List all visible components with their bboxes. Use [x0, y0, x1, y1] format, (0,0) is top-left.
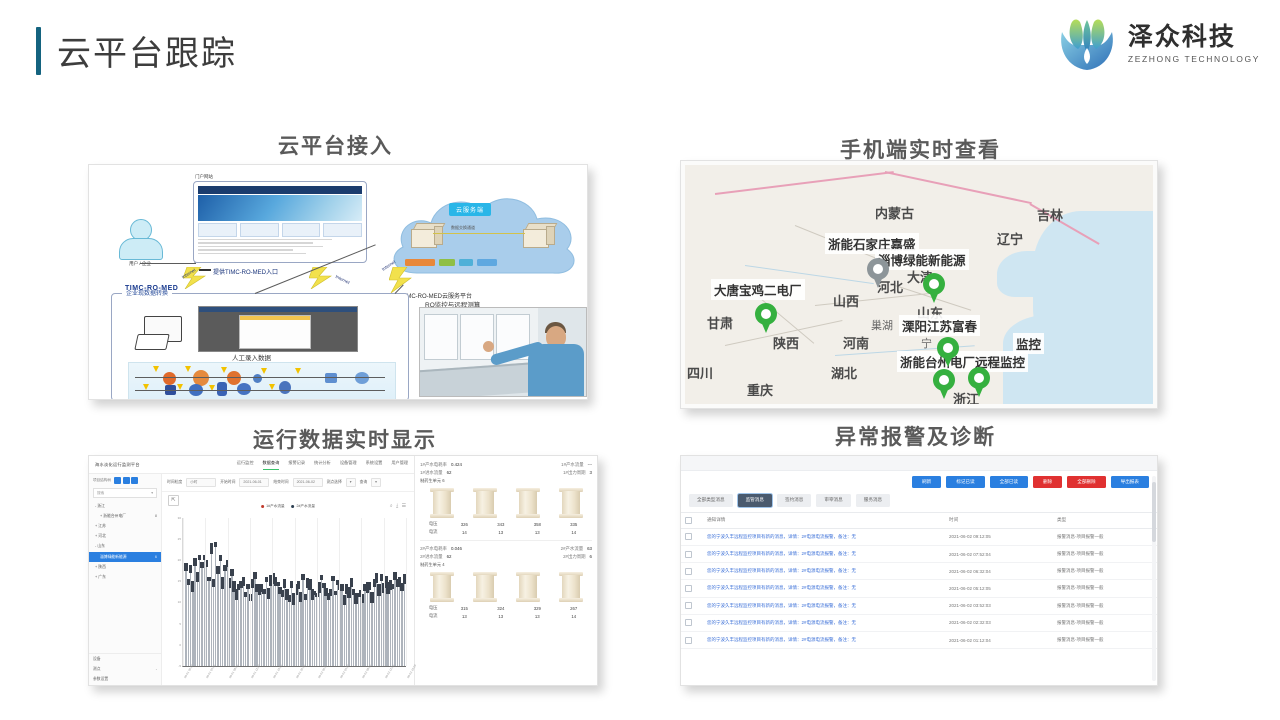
chart-spike: [319, 582, 320, 666]
chart-spike: [302, 574, 303, 666]
metric-value-row: 电流13131314: [420, 613, 592, 619]
chart-y-tick: 15: [170, 579, 181, 583]
map-label-province: 内蒙古: [875, 203, 914, 222]
process-flow-diagram: [128, 362, 396, 400]
alarm-tab[interactable]: 审宰消息: [816, 494, 850, 507]
column-header-message: 通知详情: [703, 512, 945, 528]
chart-spike: [263, 589, 264, 666]
row-checkbox[interactable]: [685, 585, 692, 592]
cloud-tag: 云服务端: [449, 203, 491, 216]
chart-spike: [305, 594, 306, 666]
chart-y-tick: 25: [170, 537, 181, 541]
chart-spike: [312, 589, 313, 666]
chart-y-tick: 10: [170, 600, 181, 604]
chart-spike: [358, 593, 359, 666]
chart-y-tick: -5: [170, 664, 181, 668]
chart-legend-item[interactable]: 1#产水流量: [261, 504, 284, 509]
timc-system-label: TIMC-RO-MED: [125, 285, 178, 292]
chart-spike: [185, 563, 186, 666]
metric-item: 1#出力周期3: [563, 470, 592, 476]
metric-item: 2#进水流量62: [420, 554, 451, 560]
chart-gridline: [384, 518, 385, 666]
title-accent-bar: [36, 27, 41, 75]
lotus-logo-icon: [1056, 14, 1118, 74]
pump-graphics: [420, 488, 592, 518]
table-row[interactable]: 您的宁波久丰远程监控项目有新的消息，详情：2#电源电流报警，备注：无2021-0…: [681, 545, 1157, 562]
map-pin-icon[interactable]: [968, 367, 990, 397]
map-label-project[interactable]: 淄博绿能新能源: [875, 249, 969, 270]
chart-toolbox-icons[interactable]: ⌕ ⤓ ☰: [390, 503, 407, 509]
alarm-type: 报警消息-项目报警一般: [1053, 631, 1157, 648]
table-row[interactable]: 您的宁波久丰远程监控项目有新的消息，详情：2#电源电流报警，备注：无2021-0…: [681, 580, 1157, 597]
select-all-checkbox-cell[interactable]: [681, 512, 703, 528]
cloud-architecture-panel: 用户 / 企业 门户网站 提供TIMC-RO-MED入口: [88, 164, 588, 400]
metric-value-row: 电压315324329267: [420, 605, 592, 611]
user-icon: 用户 / 企业: [117, 219, 163, 265]
dashboard-nav-item[interactable]: 统计分析: [314, 460, 331, 469]
tree-node-list[interactable]: - 浙江+ 浙能台州电厂8+ 江苏+ 河北- 山东淄博绿能新能源6+ 陕西+ 广…: [89, 501, 161, 583]
row-checkbox[interactable]: [685, 602, 692, 609]
map-label-province: 河南: [843, 333, 869, 352]
chart-gridline: [317, 518, 318, 666]
chart-spike: [199, 555, 200, 666]
page-title: 云平台跟踪: [36, 26, 237, 75]
map-label-province: 辽宁: [997, 229, 1023, 248]
map-label-project[interactable]: 大唐宝鸡二电厂: [711, 279, 805, 300]
chart-spike: [222, 577, 223, 666]
chart-spike: [215, 542, 216, 666]
dashboard-nav-item[interactable]: 系统设置: [366, 460, 383, 469]
alarm-time: 2021-06-02 09:12:05: [945, 528, 1053, 545]
tree-collapse-button[interactable]: [123, 477, 130, 484]
chart-spike: [243, 577, 244, 666]
chart-spike: [348, 587, 349, 666]
chart-spike: [256, 584, 257, 666]
alarm-table: 通知详情 时间 类型 您的宁波久丰远程监控项目有新的消息，详情：2#电源电流报警…: [681, 512, 1157, 649]
row-checkbox[interactable]: [685, 533, 692, 540]
project-tree[interactable]: 项目结构树 搜索 ▾ - 浙江+ 浙能台州电厂8+ 江苏+ 河北- 山东淄博绿能…: [89, 474, 162, 685]
row-checkbox[interactable]: [685, 619, 692, 626]
row-checkbox[interactable]: [685, 568, 692, 575]
alarm-tab[interactable]: 签约消息: [777, 494, 811, 507]
slide: 云平台跟踪: [0, 0, 1280, 720]
row-checkbox-cell[interactable]: [681, 528, 703, 545]
tree-footer-item[interactable]: 参数设置: [89, 675, 161, 685]
chart-spike: [252, 579, 253, 666]
chart-spike: [332, 576, 333, 666]
filter-label: 查询: [360, 480, 368, 485]
alarm-time: 2021-06-02 06:32:04: [945, 563, 1053, 580]
table-row[interactable]: 您的宁波久丰远程监控项目有新的消息，详情：2#电源电流报警，备注：无2021-0…: [681, 597, 1157, 614]
metric-unit-label: 制药生单元 6: [420, 478, 592, 484]
chart-spike: [374, 579, 375, 666]
caption-alarm-diagnosis: 异常报警及诊断: [835, 421, 996, 451]
alarm-message[interactable]: 您的宁波久丰远程监控项目有新的消息，详情：2#电源电流报警，备注：无: [703, 528, 945, 545]
chart-y-tick: 20: [170, 558, 181, 562]
alarm-time: 2021-06-02 05:12:05: [945, 580, 1053, 597]
chart-export-icon[interactable]: ⇱: [168, 495, 179, 506]
alarm-action-button[interactable]: 导出报表: [1111, 476, 1149, 488]
chart-gridline: [406, 518, 407, 666]
chart-spike: [201, 562, 202, 666]
chart-spike: [220, 555, 221, 666]
metric-summary-row: 1#产水电耗率0.4241#产水流量---: [420, 462, 592, 468]
metric-summary-row: 1#进水流量621#出力周期3: [420, 470, 592, 476]
chart-spike: [188, 579, 189, 666]
map-label-province: 陕西: [773, 333, 799, 352]
chart-spike: [259, 584, 260, 666]
table-row[interactable]: 您的宁波久丰远程监控项目有新的消息，详情：2#电源电流报警，备注：无2021-0…: [681, 563, 1157, 580]
pump-icon: [430, 572, 454, 602]
tree-toolbar[interactable]: 项目结构树: [89, 474, 161, 487]
filter-control[interactable]: 2021-06-01: [239, 478, 269, 487]
alarm-message[interactable]: 您的宁波久丰远程监控项目有新的消息，详情：2#电源电流报警，备注：无: [703, 631, 945, 648]
chart-spike: [192, 581, 193, 666]
chevron-down-icon[interactable]: ▾: [151, 491, 153, 495]
alarm-type: 报警消息-项目报警一般: [1053, 597, 1157, 614]
page-title-text: 云平台跟踪: [57, 26, 237, 75]
alarm-time: 2021-06-02 01:12:04: [945, 631, 1053, 648]
workstation-icon: [136, 316, 182, 350]
map-label-province: 重庆: [747, 380, 773, 399]
alarm-message[interactable]: 您的宁波久丰远程监控项目有新的消息，详情：2#电源电流报警，备注：无: [703, 597, 945, 614]
map-pin-icon[interactable]: [755, 303, 777, 333]
chart-area: ⇱ 1#产水流量2#产水流量 ⌕ ⤓ ☰ 302520151050-506-01…: [162, 492, 414, 685]
map-label-province: 宁: [921, 335, 932, 351]
chart-gridline: [183, 518, 184, 666]
table-row[interactable]: 您的宁波久丰远程监控项目有新的消息，详情：2#电源电流报警，备注：无2021-0…: [681, 528, 1157, 545]
cloud-link-label: 数据交换通道: [451, 225, 475, 231]
alarm-table-header: 通知详情 时间 类型: [681, 512, 1157, 528]
map-label-province: 四川: [687, 363, 713, 382]
tree-node[interactable]: + 浙能台州电厂8: [89, 511, 161, 521]
enterprise-data-box: 企业现数据转换 人工录入数据: [111, 293, 409, 400]
row-checkbox-cell[interactable]: [681, 563, 703, 580]
china-map[interactable]: 内蒙古吉林辽宁河北山西甘肃陕西河南湖北重庆四川浙江山东大津巢湖宁 浙能石家庄嘉盛…: [685, 165, 1153, 404]
chart-spike: [314, 591, 315, 666]
pump-icon: [516, 572, 540, 602]
filter-control[interactable]: ▾: [346, 478, 356, 487]
metric-value-row: 电流14131314: [420, 529, 592, 535]
chart-spike: [367, 582, 368, 666]
pump-graphics: [420, 572, 592, 602]
row-checkbox-cell[interactable]: [681, 631, 703, 648]
map-label-project[interactable]: 监控: [1013, 333, 1044, 354]
pump-icon: [559, 572, 583, 602]
chart-y-tick: 0: [170, 643, 181, 647]
filter-label: 结束时间: [273, 480, 288, 485]
map-label-province: 山西: [833, 291, 859, 310]
caption-realtime-data: 运行数据实时显示: [253, 424, 437, 454]
chart-y-tick: 5: [170, 622, 181, 626]
alarm-message[interactable]: 您的宁波久丰远程监控项目有新的消息，详情：2#电源电流报警，备注：无: [703, 545, 945, 562]
dashboard-nav-item[interactable]: 用户管理: [391, 460, 408, 469]
scada-screen: [198, 306, 358, 352]
server-icon-app: [411, 223, 441, 247]
chart-filter-bar[interactable]: 时间粒度小时开始时间2021-06-01结束时间2021-06-02测点选择▾查…: [162, 474, 414, 492]
tree-node[interactable]: + 河北: [89, 532, 161, 542]
logo-company-en: ZEZHONG TECHNOLOGY: [1128, 54, 1260, 64]
chart-spike: [344, 595, 345, 666]
metric-item: 2#产水流量63: [561, 546, 592, 552]
dashboard-nav-item[interactable]: 报警记录: [288, 460, 305, 469]
chart-spike: [390, 580, 391, 666]
alarm-topbar: [681, 456, 1157, 471]
internet-label-2: Internet: [335, 274, 351, 285]
manual-entry-label: 人工录入数据: [232, 352, 271, 362]
alarm-scrollbar[interactable]: [1152, 476, 1156, 681]
map-pin-icon[interactable]: [867, 258, 889, 288]
alarm-action-button[interactable]: 删除: [1033, 476, 1062, 488]
chart-spike: [337, 580, 338, 666]
metric-item: 2#出力周期6: [563, 554, 592, 560]
row-checkbox-cell[interactable]: [681, 545, 703, 562]
map-label-province: 甘肃: [707, 313, 733, 332]
user-label: 用户 / 企业: [117, 261, 163, 267]
dashboard-nav[interactable]: 运行监控数据查询报警记录统计分析设备管理系统设置用户管理: [237, 460, 408, 469]
alarm-tab[interactable]: 服务消息: [856, 494, 890, 507]
tree-footer[interactable]: 设备测点-参数设置: [89, 653, 161, 685]
alarm-message[interactable]: 您的宁波久丰远程监控项目有新的消息，详情：2#电源电流报警，备注：无: [703, 614, 945, 631]
chart-gridline: [205, 518, 206, 666]
dashboard-nav-item[interactable]: 设备管理: [340, 460, 357, 469]
filter-control[interactable]: 小时: [186, 478, 216, 488]
map-pin-icon[interactable]: [923, 273, 945, 303]
chart-spike: [296, 584, 297, 666]
map-pin-icon[interactable]: [937, 337, 959, 367]
chart-spike: [355, 593, 356, 666]
table-row[interactable]: 您的宁波久丰远程监控项目有新的消息，详情：2#电源电流报警，备注：无2021-0…: [681, 631, 1157, 648]
tree-toolbar-label: 项目结构树: [93, 478, 111, 483]
chart-spike: [236, 589, 237, 666]
alarm-message[interactable]: 您的宁波久丰远程监控项目有新的消息，详情：2#电源电流报警，备注：无: [703, 563, 945, 580]
metric-unit-label: 制药生单元 4: [420, 562, 592, 568]
alarm-action-button[interactable]: 全部删除: [1067, 476, 1105, 488]
metric-item: 2#产水电耗率0.046: [420, 546, 462, 552]
row-checkbox-cell[interactable]: [681, 597, 703, 614]
chart-spike: [371, 592, 372, 666]
alarm-type: 报警消息-项目报警一般: [1053, 614, 1157, 631]
alarm-tabs[interactable]: 全部类型消息监管消息签约消息审宰消息服务消息: [681, 492, 1157, 512]
filter-label: 时间粒度: [167, 480, 182, 485]
tree-footer-item[interactable]: 测点-: [89, 665, 161, 675]
chart-spike: [397, 579, 398, 666]
select-all-checkbox[interactable]: [685, 517, 692, 524]
alarm-message[interactable]: 您的宁波久丰远程监控项目有新的消息，详情：2#电源电流报警，备注：无: [703, 580, 945, 597]
chart-spike: [330, 589, 331, 666]
chart-spike: [238, 584, 239, 666]
tree-refresh-button[interactable]: [131, 477, 138, 484]
dashboard-nav-item[interactable]: 运行监控: [237, 460, 254, 469]
alarm-tab[interactable]: 监管消息: [738, 494, 772, 507]
chart-spike: [392, 584, 393, 666]
row-checkbox-cell[interactable]: [681, 614, 703, 631]
control-room-photo: [419, 307, 587, 397]
metric-item: 1#产水流量---: [561, 462, 592, 468]
pump-icon: [559, 488, 583, 518]
metric-item: 1#产水电耗率0.424: [420, 462, 462, 468]
chart-spike: [217, 566, 218, 666]
chart-spike: [321, 575, 322, 666]
column-header-type: 类型: [1053, 512, 1157, 528]
alarm-type: 报警消息-项目报警一般: [1053, 563, 1157, 580]
chart-spike: [277, 582, 278, 666]
alarm-tab[interactable]: 全部类型消息: [689, 494, 733, 507]
tree-search-placeholder: 搜索: [97, 491, 104, 496]
portal-website-label: 门户网站: [195, 174, 213, 180]
project-map-panel[interactable]: 内蒙古吉林辽宁河北山西甘肃陕西河南湖北重庆四川浙江山东大津巢湖宁 浙能石家庄嘉盛…: [680, 160, 1158, 409]
chart-spike: [208, 577, 209, 666]
filter-control[interactable]: ▾: [371, 478, 381, 487]
portal-website-box: [193, 181, 367, 263]
chart-spike: [240, 581, 241, 666]
tree-node[interactable]: - 山东: [89, 542, 161, 552]
chart-spike: [404, 574, 405, 666]
table-row[interactable]: 您的宁波久丰远程监控项目有新的消息，详情：2#电源电流报警，备注：无2021-0…: [681, 614, 1157, 631]
chart-legend[interactable]: 1#产水流量2#产水流量: [261, 504, 315, 509]
map-label-province: 巢湖: [871, 317, 893, 333]
chart-spike: [275, 577, 276, 666]
metric-summary-row: 2#产水电耗率0.0462#产水流量63: [420, 546, 592, 552]
alarm-time: 2021-06-02 07:52:04: [945, 545, 1053, 562]
tree-expand-button[interactable]: [114, 477, 121, 484]
row-checkbox[interactable]: [685, 637, 692, 644]
pump-icon: [430, 488, 454, 518]
alarm-time: 2021-06-02 02:32:03: [945, 614, 1053, 631]
chart-y-tick: 30: [170, 516, 181, 520]
chart-gridline: [339, 518, 340, 666]
caption-cloud-access: 云平台接入: [278, 130, 393, 160]
filter-label: 测点选择: [327, 480, 342, 485]
chart-spike: [282, 590, 283, 666]
metric-summary-row: 2#进水流量622#出力周期6: [420, 554, 592, 560]
chart-spike: [197, 572, 198, 666]
tree-node[interactable]: - 浙江: [89, 501, 161, 511]
tree-node[interactable]: + 广东: [89, 572, 161, 582]
map-pin-icon[interactable]: [933, 369, 955, 399]
chart-spike: [211, 543, 212, 666]
chart-spike: [213, 579, 214, 666]
server-icon-db: [523, 223, 553, 247]
chart-spike: [190, 565, 191, 666]
column-header-time: 时间: [945, 512, 1053, 528]
chart-spike: [289, 595, 290, 666]
chart-spike: [335, 591, 336, 666]
chart-spike: [378, 584, 379, 666]
chart-spike: [268, 588, 269, 666]
filter-control[interactable]: 2021-06-02: [293, 478, 323, 487]
tree-node[interactable]: 淄博绿能新能源6: [89, 552, 161, 562]
alarm-time: 2021-06-02 03:52:03: [945, 597, 1053, 614]
chart-spike: [307, 578, 308, 666]
cloud-service-chips: [405, 259, 497, 266]
metric-item: 1#进水流量62: [420, 470, 451, 476]
alarm-type: 报警消息-项目报警一般: [1053, 528, 1157, 545]
pump-icon: [473, 572, 497, 602]
row-checkbox[interactable]: [685, 551, 692, 558]
metric-value-row: 电压326343358335: [420, 521, 592, 527]
map-label-project[interactable]: 溧阳江苏富春: [899, 315, 980, 336]
entry-label: 提供TIMC-RO-MED入口: [213, 267, 278, 276]
chart-spike: [279, 587, 280, 666]
alarm-type: 报警消息-项目报警一般: [1053, 545, 1157, 562]
logo-company-cn: 泽众科技: [1128, 24, 1260, 50]
chart-plot: 302520151050-506-01 00:0006-01 04:0006-0…: [182, 518, 406, 667]
map-label-province: 吉林: [1037, 205, 1063, 224]
chart-spike: [229, 578, 230, 666]
tree-node[interactable]: + 陕西: [89, 562, 161, 572]
lightning-icon-3: [389, 267, 415, 293]
dashboard-nav-item[interactable]: 数据查询: [263, 460, 280, 469]
chart-spike: [387, 582, 388, 666]
metrics-pane: 1#产水电耗率0.4241#产水流量---1#进水流量621#出力周期3制药生单…: [415, 456, 597, 685]
realtime-dashboard-panel[interactable]: 海水淡化运行监测平台 运行监控数据查询报警记录统计分析设备管理系统设置用户管理 …: [88, 455, 598, 686]
row-checkbox-cell[interactable]: [681, 580, 703, 597]
tree-footer-item[interactable]: 设备: [89, 654, 161, 664]
chart-spike: [300, 592, 301, 666]
chart-spike: [364, 584, 365, 666]
map-label-project[interactable]: 浙能台州电厂远程监控: [897, 351, 1028, 372]
chart-spike: [328, 593, 329, 666]
chart-spike: [401, 583, 402, 666]
chart-spike: [224, 565, 225, 666]
brand-logo: 泽众科技 ZEZHONG TECHNOLOGY: [1056, 14, 1260, 74]
chart-gridline: [250, 518, 251, 666]
filter-label: 开始时间: [220, 480, 235, 485]
dashboard-brand: 海水淡化运行监测平台: [95, 462, 140, 468]
chart-spike: [245, 592, 246, 666]
alarm-action-button[interactable]: 刷新: [912, 476, 941, 488]
chart-spike: [261, 584, 262, 666]
alarm-action-button[interactable]: 标记已读: [946, 476, 984, 488]
tree-search-input[interactable]: 搜索 ▾: [93, 488, 157, 498]
pump-icon: [473, 488, 497, 518]
chart-legend-item[interactable]: 2#产水流量: [292, 504, 315, 509]
map-label-province: 湖北: [831, 363, 857, 382]
alarm-panel[interactable]: 刷新标记已读全部已读删除全部删除导出报表 全部类型消息监管消息签约消息审宰消息服…: [680, 455, 1158, 686]
chart-gridline: [295, 518, 296, 666]
chart-gridline: [272, 518, 273, 666]
metrics-separator: [420, 540, 592, 541]
alarm-action-buttons[interactable]: 刷新标记已读全部已读删除全部删除导出报表: [681, 471, 1157, 492]
chart-gridline: [361, 518, 362, 666]
pump-icon: [516, 488, 540, 518]
alarm-action-button[interactable]: 全部已读: [990, 476, 1028, 488]
alarm-type: 报警消息-项目报警一般: [1053, 580, 1157, 597]
chart-gridline: [228, 518, 229, 666]
tree-node[interactable]: + 江苏: [89, 521, 161, 531]
